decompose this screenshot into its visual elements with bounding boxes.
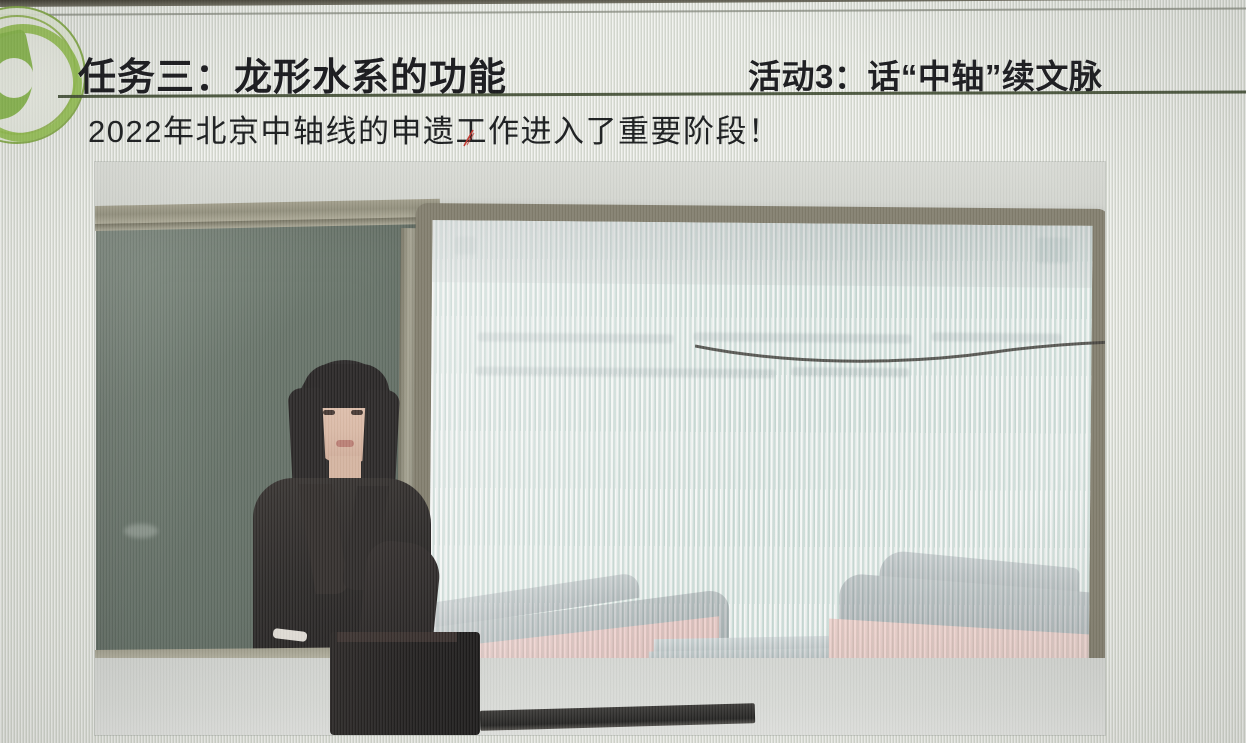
screen-text-line — [478, 333, 674, 344]
teacher-eye-right — [351, 410, 363, 415]
screen-text-line — [932, 332, 1062, 342]
screen-slide-corner-mark-right — [1036, 237, 1070, 263]
screen-text-line — [694, 332, 912, 343]
screen-top-band — [432, 220, 1093, 288]
classroom-photo — [95, 162, 1105, 735]
presentation-slide: 1946 任务三：龙形水系的功能 活动3：话“中轴”续文脉 2022年北京中轴线… — [0, 0, 1246, 743]
chalkboard-smudge — [124, 524, 158, 538]
teacher-eye-left — [323, 410, 335, 415]
slide-header: 任务三：龙形水系的功能 活动3：话“中轴”续文脉 — [0, 20, 1246, 94]
lectern-podium — [330, 632, 480, 735]
screen-text-line — [475, 367, 775, 379]
lectern-top-edge — [337, 632, 457, 642]
camera-top-band — [0, 0, 1246, 7]
slide-subtitle: 2022年北京中轴线的申遗工作进入了重要阶段！ — [88, 106, 780, 151]
top-hairline-divider — [0, 7, 1246, 16]
screen-text-line — [791, 367, 909, 377]
screen-slide-corner-mark-left — [454, 236, 476, 254]
teacher-mouth — [336, 440, 354, 447]
smartboard-frame — [410, 203, 1105, 735]
